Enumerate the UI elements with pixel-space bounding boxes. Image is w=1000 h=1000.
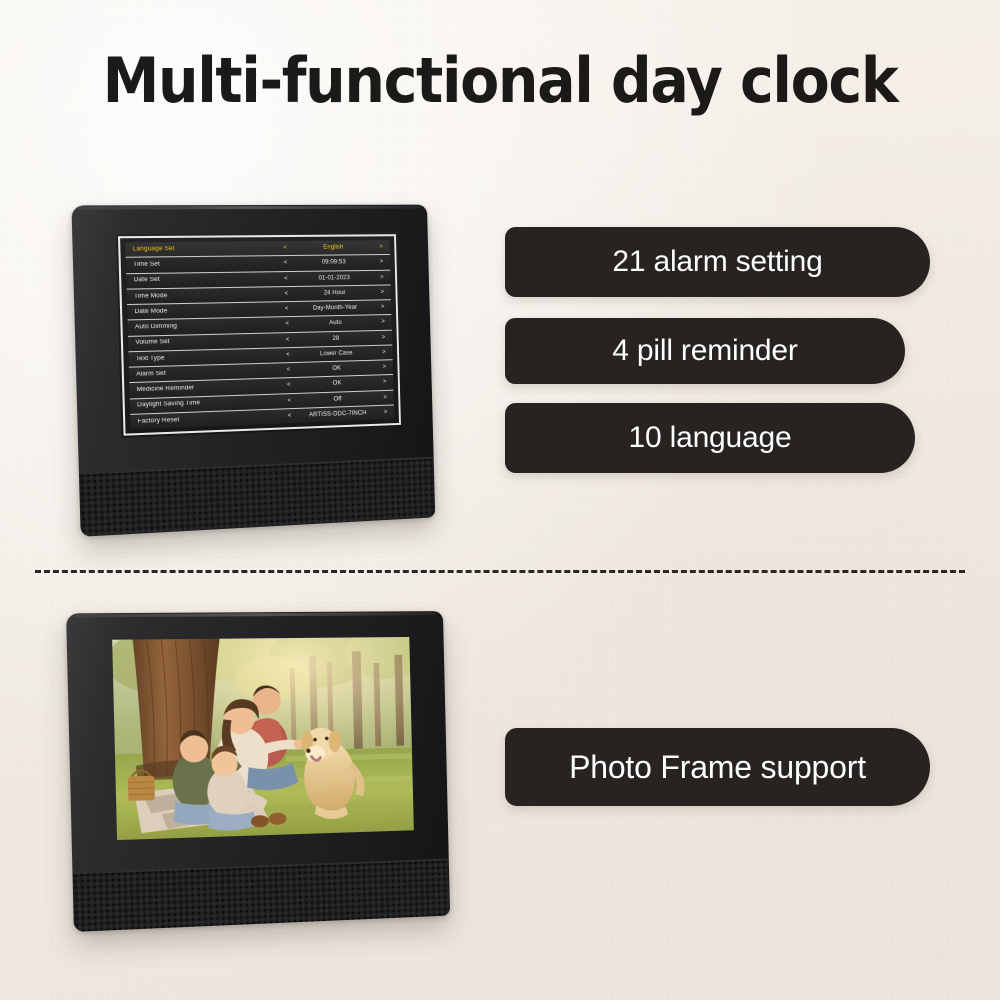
chevron-right-icon[interactable]: >	[380, 349, 388, 355]
settings-row-value: Day-Month-Year	[291, 304, 379, 312]
settings-row-label: Time Mode	[129, 291, 283, 300]
settings-row-control: <24 Hour>	[282, 289, 389, 297]
settings-row-label: Daylight Saving Time	[132, 398, 286, 410]
chevron-left-icon[interactable]: <	[282, 291, 290, 297]
chevron-left-icon[interactable]: <	[284, 352, 292, 358]
chevron-left-icon[interactable]: <	[283, 321, 291, 327]
chevron-left-icon[interactable]: <	[284, 337, 292, 343]
settings-row-control: <Lower Case>	[284, 349, 391, 358]
feature-pill-pill-reminder[interactable]: 4 pill reminder	[505, 318, 905, 384]
chevron-left-icon[interactable]: <	[286, 413, 294, 419]
settings-row-value: Auto	[291, 319, 379, 327]
section-divider	[35, 570, 965, 573]
settings-menu[interactable]: Language Set<English>Time Set<09:09:53>D…	[116, 232, 403, 438]
chevron-right-icon[interactable]: >	[378, 274, 386, 280]
settings-row-value: 01-01-2023	[290, 274, 378, 281]
settings-row-value: 24 Hour	[290, 289, 378, 297]
device-screen-settings[interactable]: Language Set<English>Time Set<09:09:53>D…	[116, 232, 403, 438]
chevron-right-icon[interactable]: >	[380, 334, 388, 340]
settings-row-label: Factory Reset	[132, 413, 285, 425]
chevron-left-icon[interactable]: <	[284, 367, 292, 373]
device-screen-photo[interactable]	[112, 637, 414, 840]
settings-row-value: ARTISS-DDC-7INCH	[293, 410, 381, 419]
day-clock-device-settings: Language Set<English>Time Set<09:09:53>D…	[71, 205, 435, 537]
settings-row-value: Off	[293, 395, 381, 404]
chevron-right-icon[interactable]: >	[381, 379, 389, 385]
page-title: Multi-functional day clock	[40, 44, 960, 117]
settings-row-control: <ARTISS-DDC-7INCH>	[286, 409, 393, 419]
settings-row-label: Volume Set	[130, 337, 284, 347]
chevron-right-icon[interactable]: >	[379, 304, 387, 310]
settings-row-control: <English>	[281, 244, 388, 251]
settings-row-control: <OK>	[284, 364, 391, 373]
settings-row-control: <Auto>	[283, 319, 390, 327]
chevron-left-icon[interactable]: <	[282, 276, 290, 282]
settings-row-control: <Day-Month-Year>	[283, 304, 390, 312]
chevron-right-icon[interactable]: >	[382, 409, 390, 415]
chevron-right-icon[interactable]: >	[381, 394, 389, 400]
chevron-right-icon[interactable]: >	[380, 364, 388, 370]
settings-row-control: <Off>	[285, 394, 392, 404]
settings-row-value: English	[289, 244, 378, 251]
settings-row-value: OK	[292, 365, 380, 374]
settings-menu-rows: Language Set<English>Time Set<09:09:53>D…	[125, 240, 394, 429]
settings-row-label: Language Set	[128, 245, 282, 253]
settings-row-value: 09:09:53	[289, 259, 377, 266]
settings-row-label: Date Set	[128, 276, 282, 285]
settings-row-control: <09:09:53>	[281, 259, 388, 266]
screen-bezel-top: Language Set<English>Time Set<09:09:53>D…	[116, 232, 403, 438]
settings-row-label: Auto Dimming	[130, 321, 284, 331]
screen-bezel-bottom	[112, 637, 414, 840]
settings-row-label: Date Mode	[129, 306, 283, 315]
settings-row-label: Alarm Set	[131, 367, 285, 378]
chevron-left-icon[interactable]: <	[281, 245, 289, 251]
chevron-left-icon[interactable]: <	[285, 382, 293, 388]
settings-row-label: Medicine Reminder	[131, 382, 285, 393]
chevron-left-icon[interactable]: <	[281, 260, 289, 266]
settings-row-value: Lower Case	[292, 349, 380, 358]
chevron-left-icon[interactable]: <	[285, 398, 293, 404]
settings-row-control: <01-01-2023>	[282, 274, 389, 282]
settings-row-label: Time Set	[128, 260, 282, 268]
settings-row-control: <OK>	[285, 379, 392, 389]
chevron-right-icon[interactable]: >	[378, 289, 386, 295]
settings-row-label: Text Type	[131, 352, 285, 363]
chevron-left-icon[interactable]: <	[283, 306, 291, 312]
chevron-right-icon[interactable]: >	[378, 259, 386, 265]
day-clock-device-photo	[66, 611, 450, 932]
settings-row-control: <28>	[284, 334, 391, 343]
chevron-right-icon[interactable]: >	[379, 319, 387, 325]
chevron-right-icon[interactable]: >	[377, 244, 385, 250]
settings-row-value: OK	[293, 380, 381, 389]
feature-pill-language[interactable]: 10 language	[505, 403, 915, 473]
family-picnic-photo	[112, 637, 414, 840]
feature-pill-photo-frame[interactable]: Photo Frame support	[505, 728, 930, 806]
feature-pill-alarm[interactable]: 21 alarm setting	[505, 227, 930, 297]
settings-row-value: 28	[291, 334, 379, 342]
